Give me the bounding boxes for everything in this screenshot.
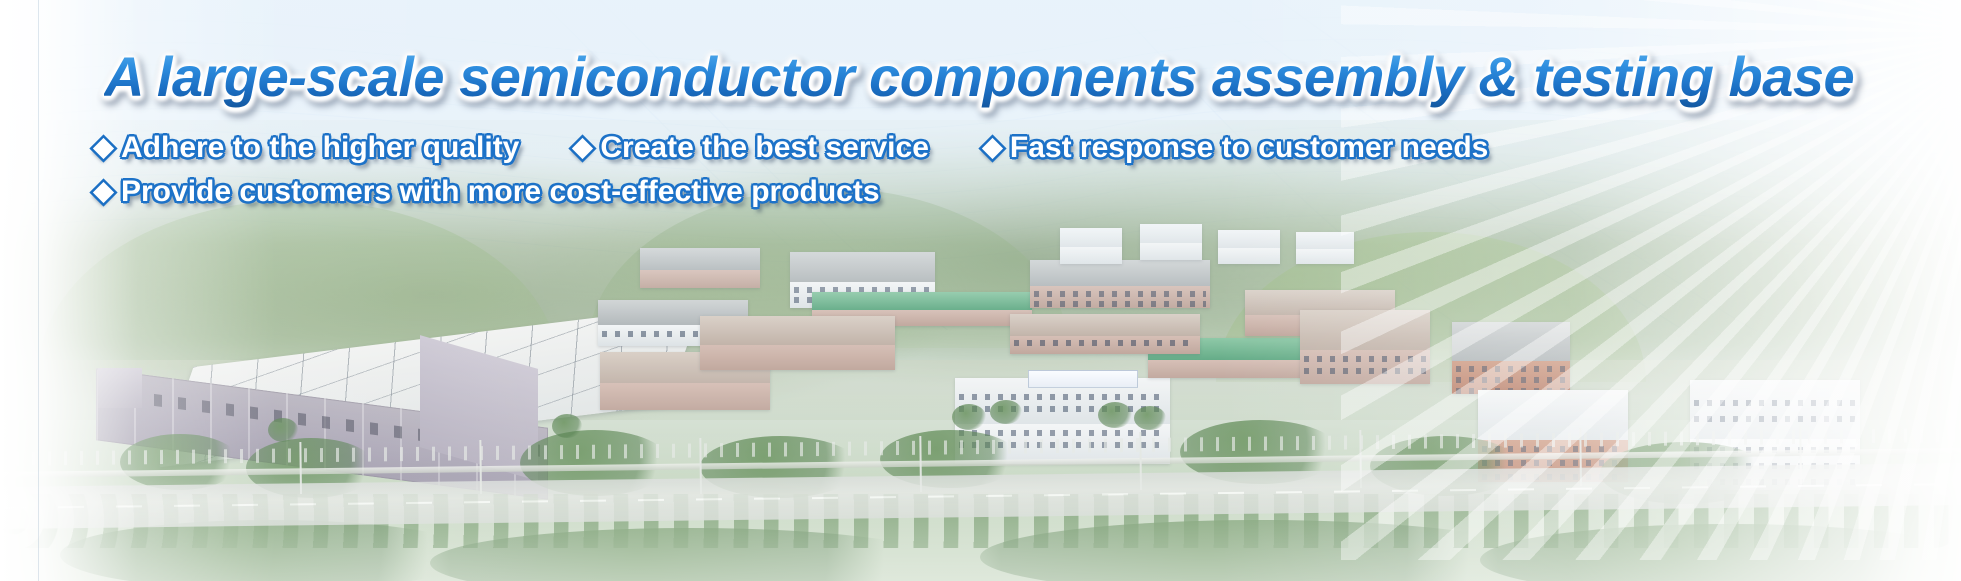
tagline-item: Adhere to the higher quality bbox=[96, 132, 519, 164]
diamond-bullet-icon bbox=[93, 182, 114, 203]
diamond-bullet-icon bbox=[982, 138, 1003, 159]
banner-copy: A large-scale semiconductor components a… bbox=[0, 0, 1961, 581]
tagline-item: Provide customers with more cost-effecti… bbox=[96, 176, 880, 208]
tagline-text: Fast response to customer needs bbox=[1010, 132, 1488, 164]
tagline-text: Provide customers with more cost-effecti… bbox=[121, 176, 880, 208]
tagline-text: Adhere to the higher quality bbox=[121, 132, 519, 164]
tagline-list: Adhere to the higher quality Create the … bbox=[96, 132, 1696, 221]
tagline-item: Create the best service bbox=[575, 132, 929, 164]
tagline-row: Provide customers with more cost-effecti… bbox=[96, 176, 1696, 208]
diamond-bullet-icon bbox=[93, 138, 114, 159]
diamond-bullet-icon bbox=[572, 138, 593, 159]
tagline-item: Fast response to customer needs bbox=[985, 132, 1488, 164]
tagline-text: Create the best service bbox=[600, 132, 929, 164]
promo-banner: A large-scale semiconductor components a… bbox=[0, 0, 1961, 581]
tagline-row: Adhere to the higher quality Create the … bbox=[96, 132, 1696, 164]
banner-headline: A large-scale semiconductor components a… bbox=[104, 44, 1854, 109]
